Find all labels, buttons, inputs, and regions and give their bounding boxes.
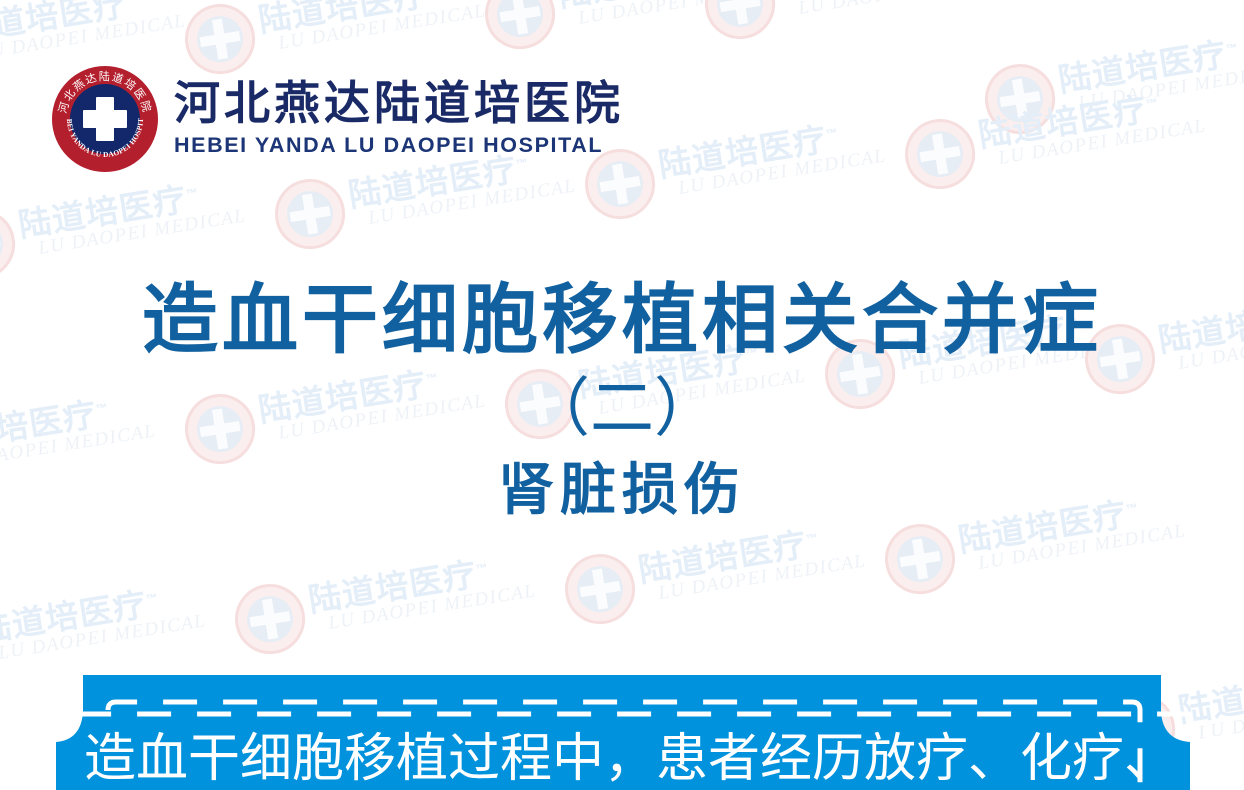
hospital-name-en: HEBEI YANDA LU DAOPEI HOSPITAL — [174, 133, 624, 158]
watermark-text-en: LU DAOPEI MEDICAL — [277, 0, 488, 55]
title-block: 造血干细胞移植相关合并症 （二） 肾脏损伤 — [0, 280, 1244, 518]
watermark-roundel-icon — [980, 59, 1060, 139]
watermark-text-en: LU DAOPEI MEDICAL — [677, 145, 888, 200]
watermark-text-cn: 陆道培医疗™ — [654, 111, 842, 187]
watermark-cross-icon — [494, 0, 547, 40]
watermark-roundel-icon — [700, 0, 780, 44]
watermark-text-en: LU DAOPEI MEDICAL — [0, 610, 208, 665]
watermark-text-en: LU DAOPEI MEDICAL — [1077, 60, 1244, 115]
watermark-roundel-icon — [0, 204, 20, 284]
hospital-logo: 河北燕达陆道培医院 HEBEI YANDA LU DAOPEI HOSPITAL — [52, 66, 158, 172]
watermark-tile: 陆道培医疗™LU DAOPEI MEDICAL — [580, 108, 894, 264]
watermark-roundel-icon — [880, 519, 960, 599]
watermark-text-en: LU DAOPEI MEDICAL — [327, 580, 538, 635]
watermark-text-cn: 陆道培医疗™ — [774, 0, 962, 7]
watermark-cross-icon — [244, 593, 297, 646]
slide-canvas: 陆道培医疗™LU DAOPEI MEDICAL陆道培医疗™LU DAOPEI M… — [0, 0, 1244, 790]
watermark-text-cn: 陆道培医疗™ — [14, 171, 202, 247]
watermark-trademark-symbol: ™ — [1225, 40, 1240, 56]
watermark-text-cn: 陆道培医疗™ — [554, 0, 742, 17]
watermark-trademark-symbol: ™ — [825, 125, 840, 141]
watermark-cross-icon — [994, 73, 1047, 126]
watermark-cross-icon — [714, 0, 767, 30]
watermark-text-en: LU DAOPEI MEDICAL — [797, 0, 1008, 20]
watermark-text-cn: 陆道培医疗™ — [0, 0, 143, 52]
logo-arc-text: 河北燕达陆道培医院 HEBEI YANDA LU DAOPEI HOSPITAL — [52, 66, 158, 172]
hospital-header: 河北燕达陆道培医院 HEBEI YANDA LU DAOPEI HOSPITAL… — [52, 66, 624, 172]
hospital-name-block: 河北燕达陆道培医院 HEBEI YANDA LU DAOPEI HOSPITAL — [174, 78, 624, 161]
watermark-roundel-icon — [270, 174, 350, 254]
watermark-text-cn: 陆道培医疗™ — [1054, 26, 1242, 102]
watermark-tile: 陆道培医疗™LU DAOPEI MEDICAL — [980, 23, 1244, 179]
hospital-name-cn: 河北燕达陆道培医院 — [174, 78, 624, 130]
watermark-cross-icon — [0, 218, 6, 271]
watermark-roundel-icon — [900, 114, 980, 194]
watermark-cross-icon — [914, 128, 967, 181]
watermark-text-cn: 陆道培医疗™ — [0, 576, 163, 652]
watermark-trademark-symbol: ™ — [185, 185, 200, 201]
page-title: 造血干细胞移植相关合并症 — [0, 280, 1244, 362]
watermark-cross-icon — [284, 188, 337, 241]
watermark-trademark-symbol: ™ — [475, 560, 490, 576]
watermark-trademark-symbol: ™ — [1145, 95, 1160, 111]
watermark-text-en: LU DAOPEI MEDICAL — [367, 175, 578, 230]
page-subtitle-part: （二） — [0, 376, 1244, 440]
watermark-text-en: LU DAOPEI MEDICAL — [997, 115, 1208, 170]
watermark-cross-icon — [194, 13, 247, 66]
watermark-cross-icon — [894, 533, 947, 586]
bottom-banner: 造血干细胞移植过程中，患者经历放疗、化疗、 — [0, 672, 1244, 790]
watermark-roundel-icon — [480, 0, 560, 54]
watermark-text-cn: 陆道培医疗™ — [974, 81, 1162, 157]
watermark-trademark-symbol: ™ — [145, 590, 160, 606]
watermark-text-en: LU DAOPEI MEDICAL — [577, 0, 788, 30]
watermark-tile: 陆道培医疗™LU DAOPEI MEDICAL — [900, 78, 1214, 234]
watermark-text-en: LU DAOPEI MEDICAL — [657, 550, 868, 605]
watermark-trademark-symbol: ™ — [805, 530, 820, 546]
watermark-text-en: LU DAOPEI MEDICAL — [37, 205, 248, 260]
watermark-cross-icon — [574, 563, 627, 616]
watermark-text-cn: 陆道培医疗™ — [634, 516, 822, 592]
watermark-roundel-icon — [230, 579, 310, 659]
watermark-trademark-symbol: ™ — [125, 0, 140, 6]
watermark-text-en: LU DAOPEI MEDICAL — [0, 10, 188, 65]
watermark-text-cn: 陆道培医疗™ — [304, 546, 492, 622]
watermark-tile: 陆道培医疗™LU DAOPEI MEDICAL — [700, 0, 1014, 84]
watermark-roundel-icon — [560, 549, 640, 629]
watermark-text-en: LU DAOPEI MEDICAL — [977, 520, 1188, 575]
logo-arc-top-text: 河北燕达陆道培医院 — [56, 69, 155, 115]
page-topic: 肾脏损伤 — [0, 462, 1244, 518]
svg-text:河北燕达陆道培医院: 河北燕达陆道培医院 — [56, 69, 155, 115]
banner-text: 造血干细胞移植过程中，患者经历放疗、化疗、 — [84, 730, 1164, 788]
watermark-text-cn: 陆道培医疗™ — [254, 0, 442, 42]
watermark-tile: 陆道培医疗™LU DAOPEI MEDICAL — [560, 513, 874, 669]
